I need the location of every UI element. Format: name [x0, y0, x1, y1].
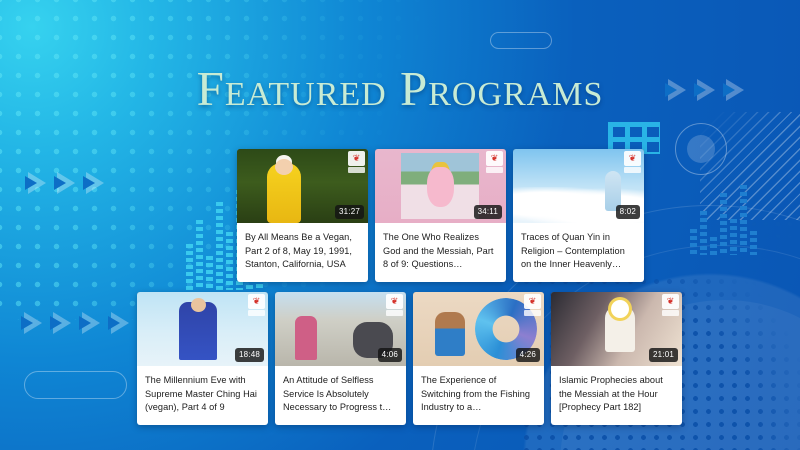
- logo-wordmark-bar: [386, 310, 403, 316]
- logo-bird-glyph: ❦: [253, 297, 261, 306]
- supreme-master-tv-logo-icon: ❦: [662, 294, 679, 309]
- supreme-master-tv-logo-icon: ❦: [386, 294, 403, 309]
- video-thumbnail[interactable]: ❦4:06: [275, 292, 406, 366]
- slide-canvas: Featured Programs ❦31:27By All Means Be …: [0, 0, 800, 450]
- play-triangle-icon: [82, 312, 100, 334]
- play-triangle-icon: [111, 312, 129, 334]
- featured-row-top: ❦31:27By All Means Be a Vegan, Part 2 of…: [237, 149, 644, 282]
- duration-badge: 18:48: [235, 348, 264, 362]
- play-triangle-icon: [86, 172, 104, 194]
- featured-row-bottom: ❦18:48The Millennium Eve with Supreme Ma…: [137, 292, 682, 425]
- video-thumbnail[interactable]: ❦31:27: [237, 149, 368, 223]
- duration-badge: 31:27: [335, 205, 364, 219]
- duration-badge: 4:06: [378, 348, 402, 362]
- supreme-master-tv-logo-icon: ❦: [624, 151, 641, 166]
- video-card[interactable]: ❦34:11The One Who Realizes God and the M…: [375, 149, 506, 282]
- video-card-title: The Millennium Eve with Supreme Master C…: [137, 366, 268, 425]
- logo-wordmark-bar: [486, 167, 503, 173]
- video-thumbnail[interactable]: ❦8:02: [513, 149, 644, 223]
- logo-wordmark-bar: [524, 310, 541, 316]
- logo-wordmark-bar: [662, 310, 679, 316]
- play-triangle-icon: [57, 172, 75, 194]
- play-triangle-row-mid-left: [28, 172, 104, 194]
- video-card[interactable]: ❦18:48The Millennium Eve with Supreme Ma…: [137, 292, 268, 425]
- page-title: Featured Programs: [0, 64, 800, 113]
- video-card-title: By All Means Be a Vegan, Part 2 of 8, Ma…: [237, 223, 368, 282]
- video-card-title: The Experience of Switching from the Fis…: [413, 366, 544, 425]
- play-triangle-icon: [28, 172, 46, 194]
- video-card[interactable]: ❦21:01Islamic Prophecies about the Messi…: [551, 292, 682, 425]
- logo-bird-glyph: ❦: [629, 154, 637, 163]
- logo-wordmark-bar: [348, 167, 365, 173]
- logo-bird-glyph: ❦: [667, 297, 675, 306]
- video-thumbnail[interactable]: ❦4:26: [413, 292, 544, 366]
- logo-bird-glyph: ❦: [391, 297, 399, 306]
- duration-badge: 4:26: [516, 348, 540, 362]
- video-card-title: Traces of Quan Yin in Religion – Contemp…: [513, 223, 644, 282]
- duration-badge: 34:11: [474, 205, 502, 219]
- video-card[interactable]: ❦8:02Traces of Quan Yin in Religion – Co…: [513, 149, 644, 282]
- logo-bird-glyph: ❦: [529, 297, 537, 306]
- logo-wordmark-bar: [624, 167, 641, 173]
- video-card-title: The One Who Realizes God and the Messiah…: [375, 223, 506, 282]
- pill-outline-icon-top: [490, 32, 552, 49]
- logo-bird-glyph: ❦: [353, 154, 361, 163]
- video-card-title: Islamic Prophecies about the Messiah at …: [551, 366, 682, 425]
- video-card[interactable]: ❦4:06An Attitude of Selfless Service Is …: [275, 292, 406, 425]
- supreme-master-tv-logo-icon: ❦: [486, 151, 503, 166]
- supreme-master-tv-logo-icon: ❦: [248, 294, 265, 309]
- circle-dot-icon: [687, 135, 715, 163]
- play-triangle-icon: [53, 312, 71, 334]
- video-thumbnail[interactable]: ❦34:11: [375, 149, 506, 223]
- video-thumbnail[interactable]: ❦21:01: [551, 292, 682, 366]
- pill-outline-icon-bottom: [24, 371, 127, 399]
- supreme-master-tv-logo-icon: ❦: [348, 151, 365, 166]
- video-thumbnail[interactable]: ❦18:48: [137, 292, 268, 366]
- play-triangle-icon: [24, 312, 42, 334]
- video-card[interactable]: ❦31:27By All Means Be a Vegan, Part 2 of…: [237, 149, 368, 282]
- duration-badge: 8:02: [616, 205, 640, 219]
- supreme-master-tv-logo-icon: ❦: [524, 294, 541, 309]
- video-card-title: An Attitude of Selfless Service Is Absol…: [275, 366, 406, 425]
- equalizer-bars-icon-right: [690, 185, 757, 255]
- logo-bird-glyph: ❦: [491, 154, 499, 163]
- duration-badge: 21:01: [649, 348, 678, 362]
- logo-wordmark-bar: [248, 310, 265, 316]
- video-card[interactable]: ❦4:26The Experience of Switching from th…: [413, 292, 544, 425]
